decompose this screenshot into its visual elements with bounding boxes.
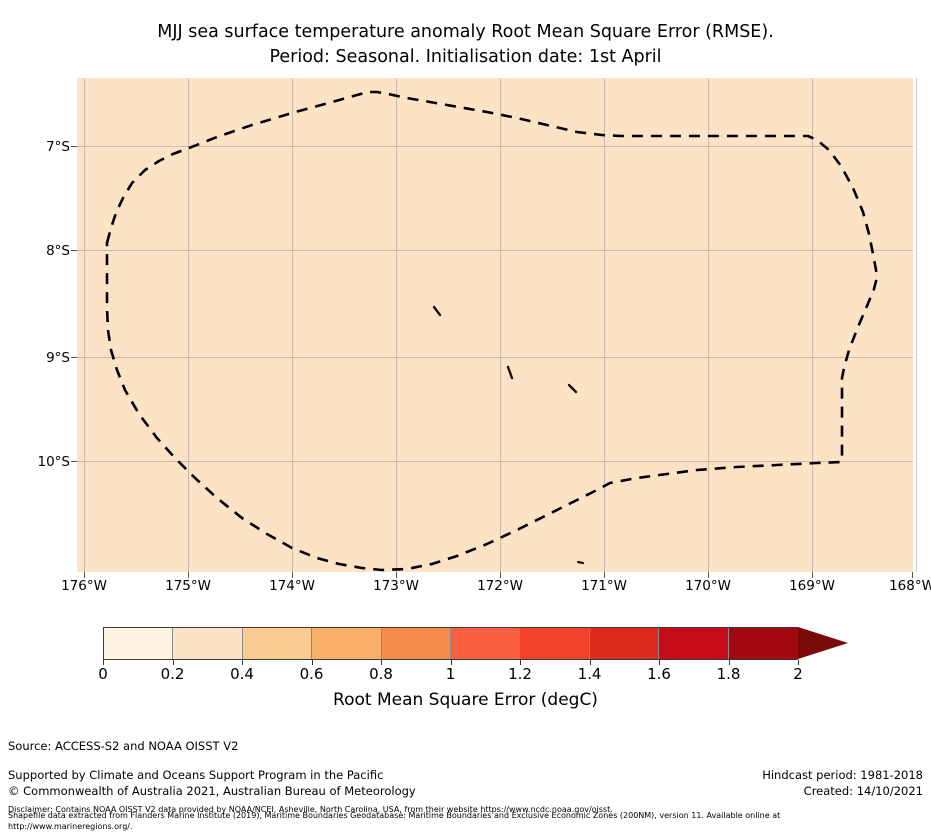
footer-disclaimer-line2: Shapefile data extracted from Flanders M… — [8, 811, 780, 820]
colorbar-tick-label: 0.6 — [282, 665, 342, 683]
colorbar-tick-label: 0 — [73, 665, 133, 683]
y-tick-label: 7°S — [8, 139, 70, 155]
colorbar-tick-label: 0.2 — [143, 665, 203, 683]
colorbar-tick-label: 0.8 — [351, 665, 411, 683]
x-tick-label: 170°W — [668, 578, 748, 594]
island-outline-atoll-3 — [569, 385, 576, 392]
y-tick-mark — [71, 146, 77, 147]
x-tick-label: 172°W — [460, 578, 540, 594]
chart-title-line2: Period: Seasonal. Initialisation date: 1… — [269, 47, 661, 67]
footer-created-date: Created: 14/10/2021 — [804, 784, 923, 798]
figure: MJJ sea surface temperature anomaly Root… — [0, 0, 931, 839]
footer-disclaimer-line3: http://www.marineregions.org/. — [8, 822, 133, 831]
colorbar-tick-label: 1.4 — [560, 665, 620, 683]
footer-copyright: © Commonwealth of Australia 2021, Austra… — [8, 784, 416, 798]
x-tick-label: 168°W — [872, 578, 931, 594]
colorbar-segment — [590, 628, 659, 659]
colorbar-segment — [104, 628, 173, 659]
eez-boundary-overlay — [77, 78, 913, 572]
colorbar-segment — [451, 628, 520, 659]
y-tick-mark — [71, 250, 77, 251]
colorbar-tick-label: 0.4 — [212, 665, 272, 683]
colorbar-segment — [729, 628, 797, 659]
colorbar-tick-label: 1.2 — [490, 665, 550, 683]
colorbar-tick-label: 1 — [421, 665, 481, 683]
island-outline-atoll-2 — [508, 367, 512, 378]
x-tick-label: 174°W — [252, 578, 332, 594]
colorbar-tick-label: 1.6 — [629, 665, 689, 683]
colorbar-title: Root Mean Square Error (degC) — [0, 690, 931, 710]
chart-title: MJJ sea surface temperature anomaly Root… — [0, 20, 931, 70]
y-tick-mark — [71, 461, 77, 462]
footer-hindcast-period: Hindcast period: 1981-2018 — [762, 768, 923, 782]
colorbar-tick-label: 2 — [768, 665, 828, 683]
chart-title-line1: MJJ sea surface temperature anomaly Root… — [157, 22, 774, 42]
y-tick-label: 10°S — [8, 454, 70, 470]
colorbar-tick-label: 1.8 — [699, 665, 759, 683]
y-tick-mark — [71, 357, 77, 358]
x-tick-label: 169°W — [772, 578, 852, 594]
map-plot-area — [77, 78, 913, 572]
colorbar — [103, 627, 848, 660]
colorbar-segment — [382, 628, 451, 659]
y-tick-label: 8°S — [8, 243, 70, 259]
y-tick-label: 9°S — [8, 350, 70, 366]
footer-support: Supported by Climate and Oceans Support … — [8, 768, 383, 782]
footer-source: Source: ACCESS-S2 and NOAA OISST V2 — [8, 739, 238, 753]
x-tick-label: 171°W — [564, 578, 644, 594]
x-tick-label: 176°W — [44, 578, 124, 594]
colorbar-segment — [659, 628, 728, 659]
island-outline-atoll-4 — [578, 562, 583, 563]
colorbar-segment — [173, 628, 242, 659]
colorbar-segment — [520, 628, 589, 659]
colorbar-segment — [312, 628, 381, 659]
x-tick-label: 175°W — [148, 578, 228, 594]
eez-boundary-path — [107, 92, 877, 570]
x-tick-label: 173°W — [356, 578, 436, 594]
gridline-vertical — [916, 78, 917, 572]
colorbar-gradient — [103, 627, 798, 660]
colorbar-over-arrow — [798, 627, 848, 659]
island-outline-atoll-1 — [434, 307, 440, 315]
colorbar-segment — [243, 628, 312, 659]
